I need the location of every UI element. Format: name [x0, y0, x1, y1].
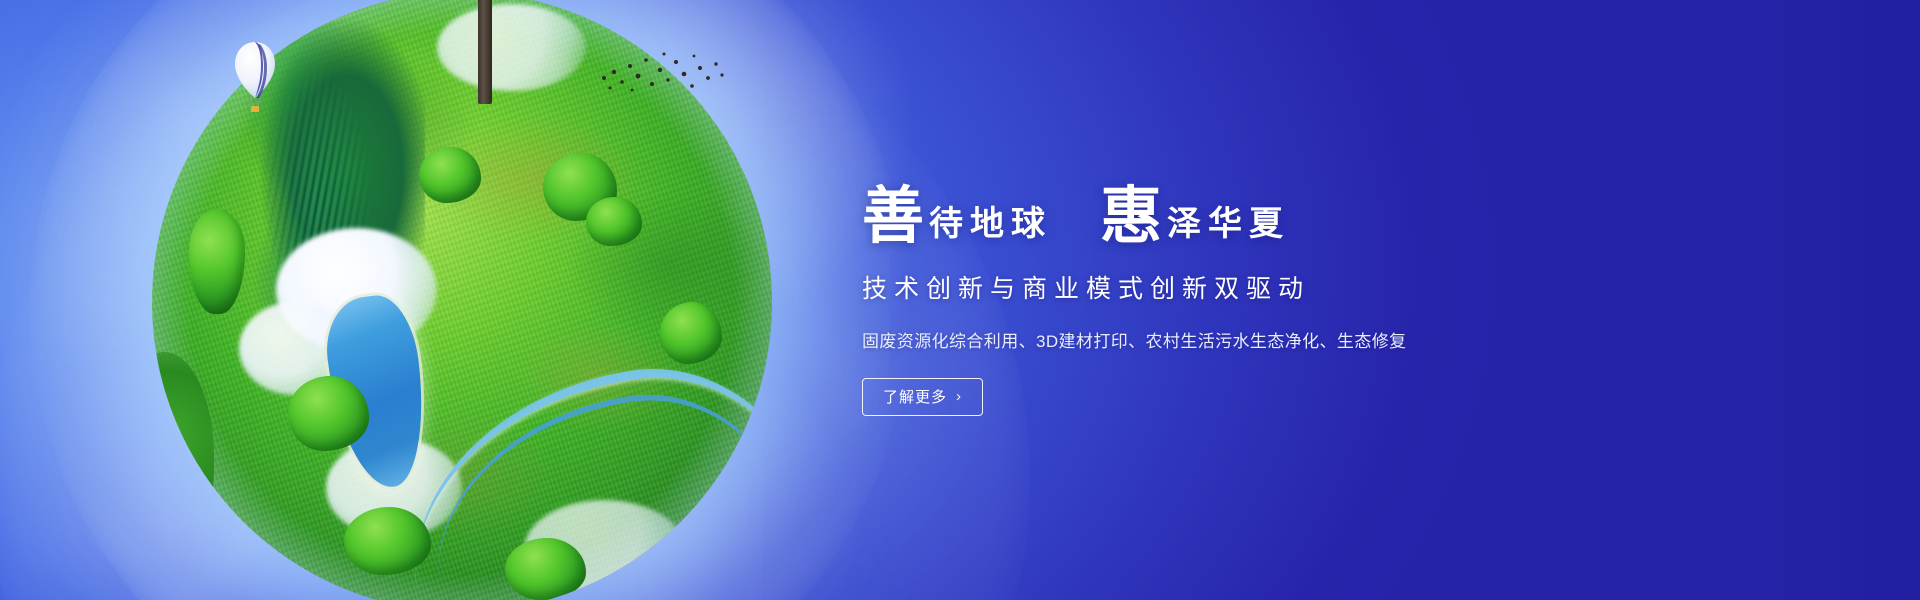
- hero-description: 固废资源化综合利用、3D建材打印、农村生活污水生态净化、生态修复: [862, 327, 1407, 352]
- learn-more-label: 了解更多: [883, 386, 947, 407]
- hero-subtitle: 技术创新与商业模式创新双驱动: [862, 269, 1310, 305]
- meadow-patches: [152, 0, 772, 600]
- right-gradient-overlay: [1500, 0, 1920, 600]
- tree-cluster-icon: [344, 507, 431, 575]
- tree-cluster-icon: [660, 302, 722, 364]
- river-shape: [388, 346, 772, 594]
- headline-char-2: 惠: [1100, 185, 1163, 247]
- hot-air-balloon-icon: [232, 40, 278, 118]
- cloud-icon: [524, 500, 685, 599]
- headline-text-2: 泽华夏: [1167, 207, 1290, 247]
- grass-texture: [152, 0, 772, 600]
- cloud-swirl-layer: [30, 0, 910, 600]
- forest-ridge: [152, 0, 425, 438]
- headline-char-1: 善: [862, 185, 925, 247]
- cloud-icon: [239, 302, 351, 395]
- tree-cluster-icon: [543, 153, 617, 221]
- tree-cluster-icon: [505, 538, 586, 600]
- hero-copy-block: 善 待地球 惠 泽华夏 技术创新与商业模式创新双驱动 固废资源化综合利用、3D建…: [862, 0, 1562, 600]
- cloud-icon: [326, 438, 462, 537]
- tree-cluster-icon: [189, 209, 245, 314]
- tree-cluster-icon: [288, 376, 369, 450]
- tree-cluster-icon: [419, 147, 481, 203]
- lake-shape: [320, 291, 433, 493]
- tree-trunk: [478, 0, 493, 104]
- birds-flock-icon: [596, 48, 726, 94]
- tree-cluster-icon: [586, 197, 642, 247]
- cloud-icon: [437, 4, 586, 91]
- page-title: 善 待地球 惠 泽华夏: [862, 185, 1290, 247]
- chevron-right-icon: ›: [956, 389, 962, 404]
- river-shape-inner: [414, 374, 772, 589]
- globe-illustration: [152, 0, 772, 600]
- side-tree-icon: [152, 352, 214, 563]
- hero-banner: 善 待地球 惠 泽华夏 技术创新与商业模式创新双驱动 固废资源化综合利用、3D建…: [0, 0, 1920, 600]
- headline-text-1: 待地球: [929, 207, 1052, 247]
- cloud-icon: [276, 228, 437, 352]
- globe-sphere: [152, 0, 772, 600]
- learn-more-button[interactable]: 了解更多 ›: [862, 378, 983, 416]
